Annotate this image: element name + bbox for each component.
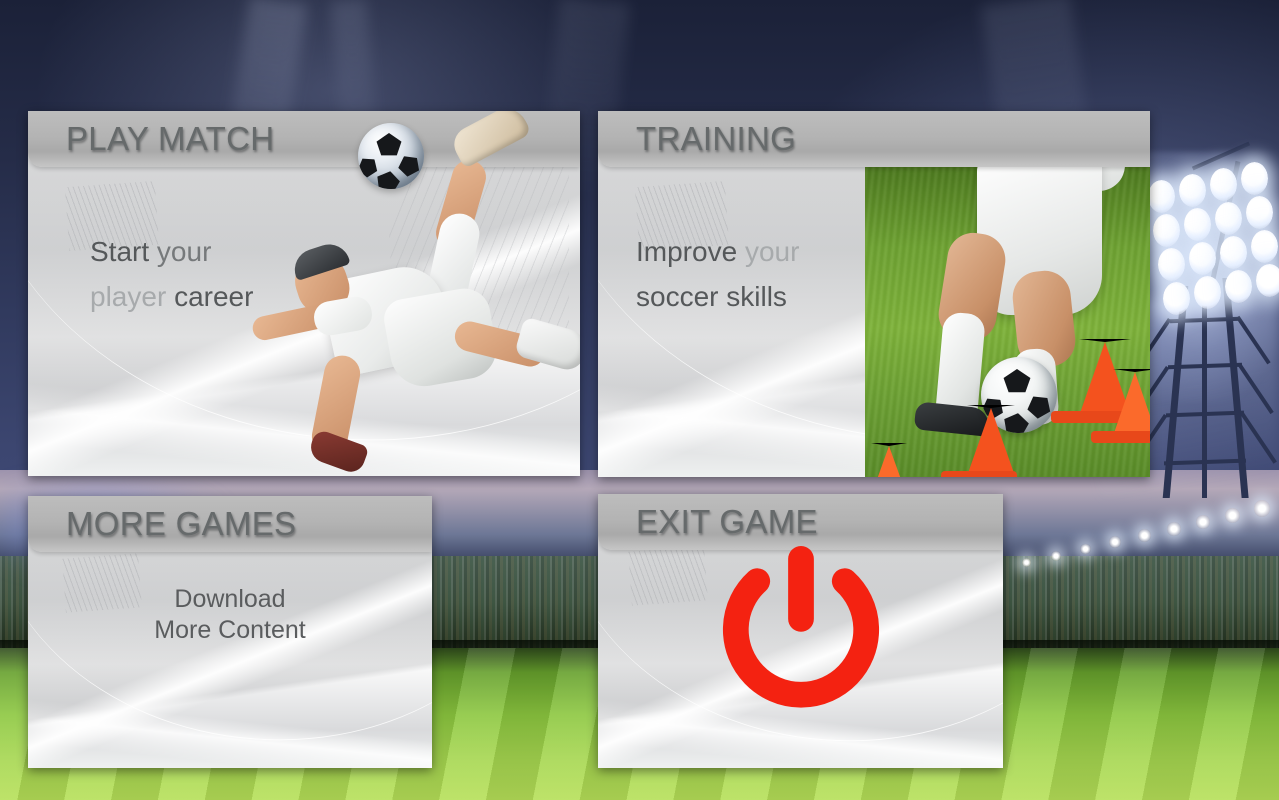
roof-light — [1022, 558, 1031, 567]
panel-caption-play-match: Start your player career — [90, 229, 253, 319]
panel-title-play-match: PLAY MATCH — [66, 120, 274, 158]
floodlight-lamp — [1246, 196, 1273, 229]
floodlight-lamp — [1153, 214, 1180, 247]
menu-panel-exit-game[interactable]: EXIT GAME — [598, 494, 1003, 768]
panel-body — [598, 167, 1150, 477]
panel-caption-training: Improve your soccer skills — [636, 229, 799, 319]
floodlight-lamp — [1220, 236, 1247, 269]
floodlight-lamp — [1148, 180, 1175, 213]
player-bicycle-kick-artwork — [256, 111, 580, 463]
caption-word: Improve — [636, 236, 737, 267]
caption-line: Download — [28, 584, 432, 615]
panel-caption-more-games: Download More Content — [28, 584, 432, 646]
panel-title-exit-game: EXIT GAME — [636, 503, 818, 541]
floodlight-lamp — [1179, 174, 1206, 207]
soccer-ball-icon — [358, 123, 424, 189]
floodlight-lamp — [1225, 270, 1252, 303]
floodlight-lamp — [1163, 282, 1190, 315]
menu-stage: PLAY MATCH Start your player career — [0, 0, 1279, 800]
floodlight-lamp — [1189, 242, 1216, 275]
menu-panel-play-match[interactable]: PLAY MATCH Start your player career — [28, 111, 580, 476]
floodlight-lamp — [1194, 276, 1221, 309]
panel-title-more-games: MORE GAMES — [66, 505, 296, 543]
panel-header-training: TRAINING — [598, 111, 1150, 167]
caption-word: your — [745, 236, 799, 267]
caption-word: soccer skills — [636, 281, 787, 312]
power-icon[interactable] — [715, 546, 887, 721]
floodlight-lamp — [1256, 264, 1279, 297]
floodlight-lamp — [1215, 202, 1242, 235]
floodlight-lamp — [1251, 230, 1278, 263]
floodlight-lamp — [1184, 208, 1211, 241]
caption-word: pla — [90, 281, 127, 312]
floodlight-lamp — [1210, 168, 1237, 201]
caption-word: career — [174, 281, 253, 312]
training-dribbling-artwork — [865, 167, 1150, 477]
panel-title-training: TRAINING — [636, 120, 796, 158]
menu-panel-training[interactable]: TRAINING Improve your soccer skills — [598, 111, 1150, 477]
panel-header-exit-game: EXIT GAME — [598, 494, 1003, 550]
panel-header-more-games: MORE GAMES — [28, 496, 432, 552]
caption-word: your — [157, 236, 211, 267]
roof-light — [1080, 544, 1091, 555]
roof-light — [1051, 551, 1061, 561]
floodlight-lamp — [1158, 248, 1185, 281]
menu-panel-more-games[interactable]: MORE GAMES Download More Content — [28, 496, 432, 768]
floodlight-tower — [1146, 168, 1274, 498]
power-icon-container[interactable] — [598, 546, 1003, 721]
caption-word: Start — [90, 236, 149, 267]
caption-line: More Content — [28, 615, 432, 646]
floodlight-lamp — [1241, 162, 1268, 195]
caption-word: yer — [127, 281, 166, 312]
